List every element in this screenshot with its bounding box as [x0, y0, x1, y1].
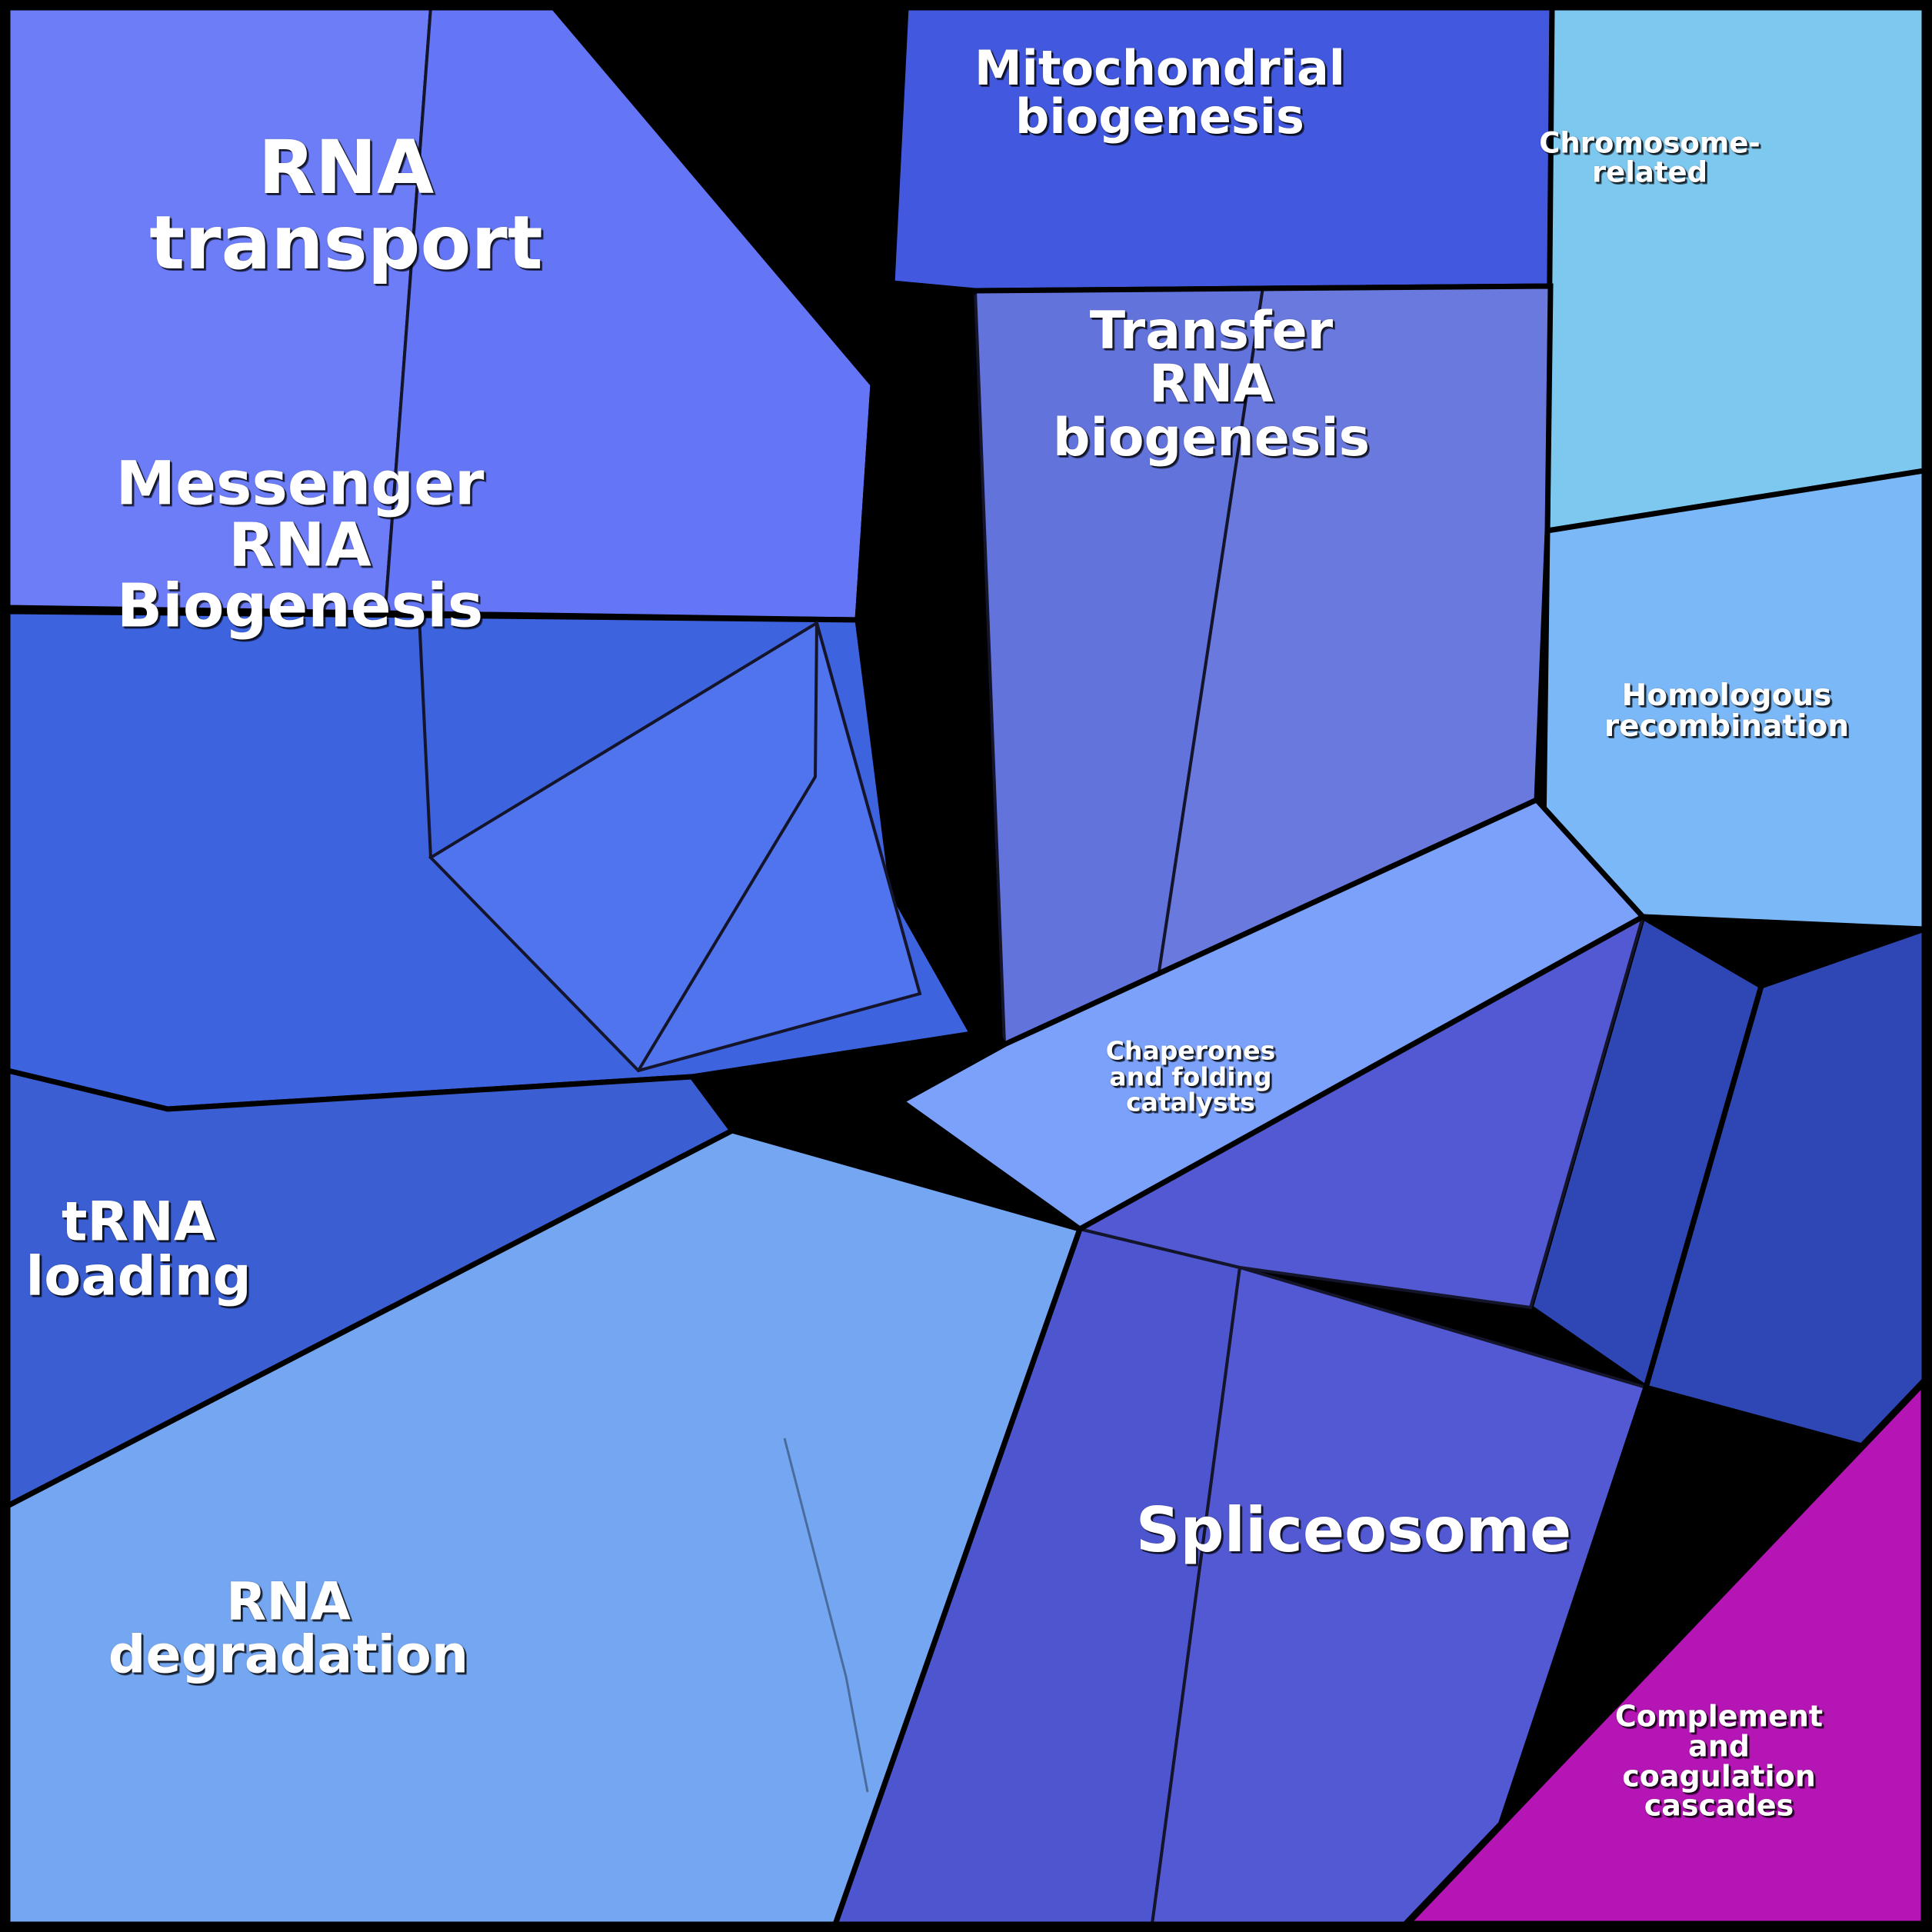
- voronoi-treemap-figure: RNA transport Mitochondrial biogenesis C…: [0, 0, 1932, 1932]
- cell-mitochondrial-biogenesis-shape[interactable]: [892, 8, 1552, 291]
- cell-homologous-recombination[interactable]: [1543, 471, 1924, 929]
- treemap-canvas: [0, 0, 1932, 1932]
- cell-chromosome-related[interactable]: [1547, 8, 1924, 531]
- cell-rna-transport-sub-a[interactable]: [8, 8, 431, 620]
